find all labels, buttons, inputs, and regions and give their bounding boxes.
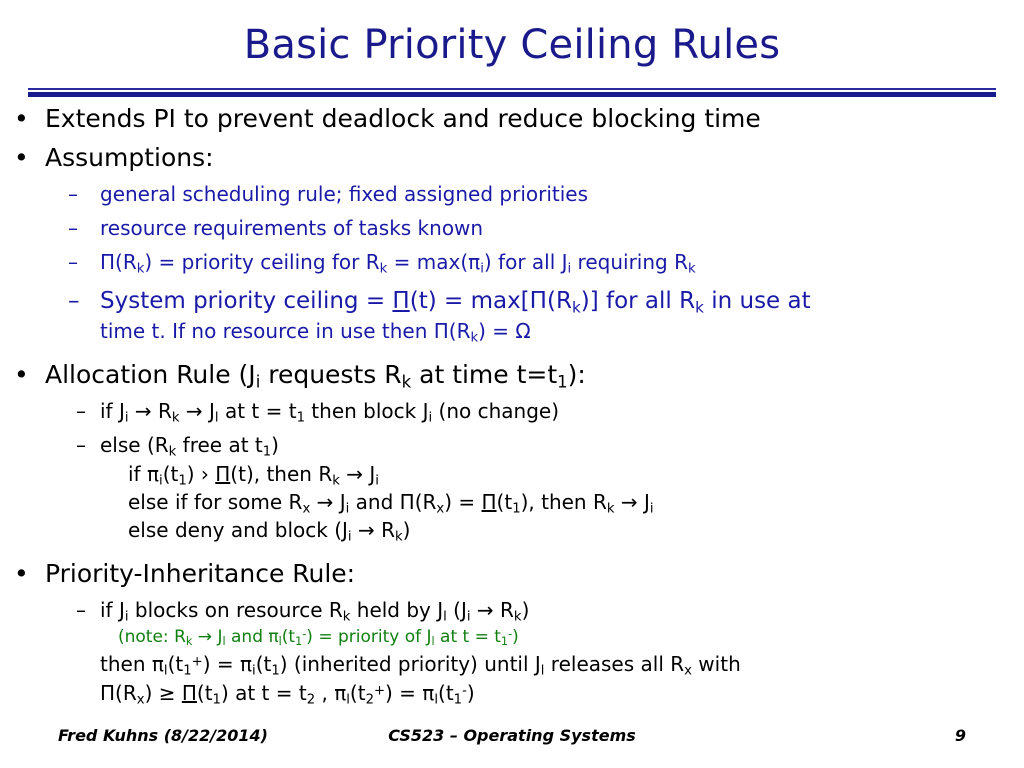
inherit-if-mid3: (J xyxy=(447,598,467,622)
then1-mid2: ) = xyxy=(203,652,240,676)
then1-sub-x: x xyxy=(684,664,692,679)
alloc-if-tail: (no change) xyxy=(432,399,559,423)
slide-body: • Extends PI to prevent deadlock and red… xyxy=(0,102,1024,710)
cond3-lead: else deny and block (J xyxy=(128,518,348,542)
system-ceiling-close: )] for all R xyxy=(581,288,695,314)
alloc-else-mid: free at t xyxy=(176,433,262,457)
footer-course: CS523 – Operating Systems xyxy=(0,726,1024,745)
cond3-mid: → R xyxy=(352,518,395,542)
spacer xyxy=(0,277,1024,286)
then2-lead: (R xyxy=(115,681,137,705)
note-lead: (note: R xyxy=(118,627,186,647)
allocation-condition-3: else deny and block (Ji → Rk) xyxy=(0,516,1024,544)
then1-sub-1: 1 xyxy=(183,664,191,679)
bullet-priority-inheritance-label: Priority-Inheritance Rule: xyxy=(45,559,355,588)
bullet-dot-icon: • xyxy=(14,102,29,136)
system-ceiling-line2-rk: (R xyxy=(449,319,471,343)
pi-lower-symbol: π xyxy=(468,250,480,274)
note-sub-1b: 1 xyxy=(501,635,508,648)
then1-mid4: ) (inherited priority) until J xyxy=(280,652,541,676)
inherit-if-lead: if J xyxy=(100,598,125,622)
then2-sub-1: 1 xyxy=(213,693,221,708)
note-mid: → J xyxy=(192,627,222,647)
ceiling-def-pre: (R xyxy=(115,250,137,274)
then2-mid3: ) at t = t xyxy=(221,681,307,705)
dash-icon: – xyxy=(68,180,78,209)
inheritance-then-line-1: then πl(t1+) = πi(t1) (inherited priorit… xyxy=(0,650,1024,679)
then2-mid6: ) = xyxy=(385,681,422,705)
alloc-if-a2: → J xyxy=(180,399,215,423)
cond1-sub-1: 1 xyxy=(178,474,186,489)
allocation-if-branch: – if Ji → Rk → Jl at t = t1 then block J… xyxy=(0,397,1024,426)
then2-mid4: , xyxy=(315,681,334,705)
title-area: Basic Priority Ceiling Rules xyxy=(0,22,1024,68)
cond2-tail: → J xyxy=(615,490,650,514)
cond2-mid3: (R xyxy=(415,490,437,514)
cond2-mid: → J xyxy=(310,490,345,514)
inherit-if-mid: blocks on resource R xyxy=(129,598,343,622)
then2-sub-1b: 1 xyxy=(454,693,462,708)
divider-thick-line xyxy=(28,92,996,97)
bullet-extends-pi: • Extends PI to prevent deadlock and red… xyxy=(0,102,1024,136)
inherit-if-sub-k2: k xyxy=(514,610,522,625)
system-ceiling-line2-tail: ) = xyxy=(478,319,515,343)
then1-mid3: (t xyxy=(256,652,272,676)
omega-symbol: Ω xyxy=(515,319,530,343)
allocation-condition-1: if πi(t1) › Π(t), then Rk → Ji xyxy=(0,460,1024,488)
footer-page-number: 9 xyxy=(955,726,966,745)
pi-lower-symbol: π xyxy=(334,681,346,705)
inherit-if-mid4: → R xyxy=(471,598,514,622)
note-mid5: at t = t xyxy=(435,627,501,647)
alloc-if-mid: at t = t xyxy=(219,399,297,423)
sub-bullet-resource-requirements-label: resource requirements of tasks known xyxy=(100,216,483,240)
cond1-mid4: → J xyxy=(340,462,375,486)
pi-capital-symbol: Π xyxy=(400,490,415,514)
pi-capital-symbol: Π xyxy=(530,288,547,314)
ceiling-def-mid3: ) for all J xyxy=(484,250,568,274)
sub-bullet-resource-requirements: – resource requirements of tasks known xyxy=(0,214,1024,243)
pi-capital-symbol: Π xyxy=(100,681,115,705)
inheritance-then-line-2: Π(Rx) ≥ Π(t1) at t = t2 , πl(t2+) = πl(t… xyxy=(0,679,1024,708)
slide-footer: Fred Kuhns (8/22/2014) CS523 – Operating… xyxy=(0,726,1024,756)
pi-lower-symbol: π xyxy=(268,627,278,647)
allocation-condition-2: else if for some Rx → Ji and Π(Rx) = Π(t… xyxy=(0,488,1024,516)
note-mid3: (t xyxy=(282,627,295,647)
dash-icon: – xyxy=(68,286,80,317)
bullet-extends-pi-label: Extends PI to prevent deadlock and reduc… xyxy=(45,104,761,133)
then1-mid5: releases all R xyxy=(544,652,684,676)
allocation-lead: Allocation Rule (J xyxy=(45,360,256,389)
pi-capital-underlined-symbol: Π xyxy=(482,490,497,514)
alloc-if-sub-1: 1 xyxy=(297,411,305,426)
sub-bullet-system-priority-ceiling: – System priority ceiling = Π(t) = max[Π… xyxy=(0,286,1024,317)
cond3-tail: ) xyxy=(403,518,411,542)
title-divider xyxy=(28,88,996,97)
slide: Basic Priority Ceiling Rules • Extends P… xyxy=(0,0,1024,768)
system-ceiling-sub-k2: k xyxy=(695,298,704,316)
allocation-sub-1: 1 xyxy=(557,373,568,392)
alloc-if-sub-k: k xyxy=(172,411,180,426)
then2-mid5: (t xyxy=(350,681,366,705)
inheritance-note: (note: Rk → Jl and πl(t1-) = priority of… xyxy=(0,625,1024,650)
then1-sub-1b: 1 xyxy=(271,664,279,679)
pi-lower-symbol: π xyxy=(152,652,164,676)
dash-icon: – xyxy=(76,397,86,426)
bullet-allocation-rule: • Allocation Rule (Ji requests Rk at tim… xyxy=(0,358,1024,392)
ceiling-def-sub-k3: k xyxy=(688,262,696,277)
cond2-mid2: and xyxy=(349,490,399,514)
bullet-dot-icon: • xyxy=(14,557,29,591)
cond2-mid6: ), then R xyxy=(521,490,607,514)
cond2-lead: else if for some R xyxy=(128,490,302,514)
then2-sub-2: 2 xyxy=(307,693,315,708)
bullet-priority-inheritance-rule: • Priority-Inheritance Rule: xyxy=(0,557,1024,591)
alloc-else-tail: ) xyxy=(271,433,279,457)
alloc-else-lead: else (R xyxy=(100,433,169,457)
dash-icon: – xyxy=(76,596,86,625)
inherit-if-tail: ) xyxy=(522,598,530,622)
dash-icon: – xyxy=(68,248,78,277)
system-ceiling-rk: (R xyxy=(547,288,572,314)
cond2-sub-k: k xyxy=(607,502,615,517)
cond3-sub-k: k xyxy=(395,530,403,545)
ceiling-def-mid: ) = priority ceiling for R xyxy=(144,250,379,274)
system-ceiling-line2-lead: time t. If no resource in use then xyxy=(100,319,434,343)
sub-bullet-general-scheduling: – general scheduling rule; fixed assigne… xyxy=(0,180,1024,209)
ceiling-def-tail: requiring R xyxy=(571,250,688,274)
system-ceiling-line2-sub-k: k xyxy=(470,331,478,346)
bullet-dot-icon: • xyxy=(14,358,29,392)
sub-bullet-ceiling-definition: – Π(Rk) = priority ceiling for Rk = max(… xyxy=(0,248,1024,277)
sub-bullet-general-scheduling-label: general scheduling rule; fixed assigned … xyxy=(100,182,588,206)
allocation-sub-k: k xyxy=(402,373,412,392)
allocation-tail: ): xyxy=(568,360,586,389)
pi-lower-symbol: π xyxy=(147,462,159,486)
pi-capital-underlined-symbol: Π xyxy=(215,462,230,486)
then2-sub-x: x xyxy=(137,693,145,708)
alloc-if-mid2: then block J xyxy=(305,399,429,423)
pi-capital-symbol: Π xyxy=(434,319,449,343)
cond1-mid3: (t), then R xyxy=(230,462,332,486)
then2-sub-2b: 2 xyxy=(366,693,374,708)
then2-mid: ) ≥ xyxy=(145,681,182,705)
then1-tail: with xyxy=(692,652,741,676)
allocation-mid2: at time t=t xyxy=(411,360,557,389)
cond1-sub-i2: i xyxy=(375,474,379,489)
alloc-if-a1: → R xyxy=(129,399,172,423)
then1-mid: (t xyxy=(168,652,184,676)
cond1-mid: (t xyxy=(163,462,179,486)
pi-lower-symbol: π xyxy=(422,681,434,705)
pi-capital-underlined-symbol: Π xyxy=(392,288,409,314)
cond2-mid5: (t xyxy=(497,490,513,514)
system-ceiling-tail: in use at xyxy=(704,288,811,314)
alloc-if-lead: if J xyxy=(100,399,125,423)
ceiling-def-mid2: = max( xyxy=(387,250,468,274)
then2-tail: ) xyxy=(467,681,475,705)
note-tail: ) xyxy=(512,627,519,647)
system-ceiling-lead: System priority ceiling = xyxy=(100,288,392,314)
pi-lower-symbol: π xyxy=(240,652,252,676)
dash-icon: – xyxy=(68,214,78,243)
bullet-assumptions: • Assumptions: xyxy=(0,141,1024,175)
note-mid2: and xyxy=(226,627,269,647)
cond2-sub-1: 1 xyxy=(512,502,520,517)
spacer xyxy=(0,544,1024,557)
alloc-else-sub-1: 1 xyxy=(263,445,271,460)
dash-icon: – xyxy=(76,431,86,460)
then1-sup-plus: + xyxy=(192,654,203,669)
spacer xyxy=(0,345,1024,358)
bullet-assumptions-label: Assumptions: xyxy=(45,143,214,172)
page-title: Basic Priority Ceiling Rules xyxy=(0,22,1024,68)
then1-lead: then xyxy=(100,652,152,676)
cond2-mid4: ) = xyxy=(444,490,481,514)
pi-capital-underlined-symbol: Π xyxy=(182,681,197,705)
system-ceiling-continuation: time t. If no resource in use then Π(Rk)… xyxy=(0,317,1024,345)
allocation-mid: requests R xyxy=(260,360,401,389)
cond1-lead: if xyxy=(128,462,147,486)
bullet-dot-icon: • xyxy=(14,141,29,175)
then2-mid2: (t xyxy=(197,681,213,705)
system-ceiling-pi-t: (t) = max[ xyxy=(410,288,530,314)
cond1-sub-k: k xyxy=(332,474,340,489)
system-ceiling-sub-k: k xyxy=(572,298,581,316)
then2-sup-plus: + xyxy=(374,683,385,698)
note-mid4: ) = priority of J xyxy=(306,627,431,647)
inheritance-if-branch: – if Ji blocks on resource Rk held by Jl… xyxy=(0,596,1024,625)
cond2-sub-i2: i xyxy=(650,502,654,517)
allocation-else-branch: – else (Rk free at t1) xyxy=(0,431,1024,460)
pi-capital-symbol: Π xyxy=(100,250,115,274)
then2-mid7: (t xyxy=(438,681,454,705)
cond1-mid2: ) › xyxy=(187,462,216,486)
inherit-if-mid2: held by J xyxy=(350,598,443,622)
